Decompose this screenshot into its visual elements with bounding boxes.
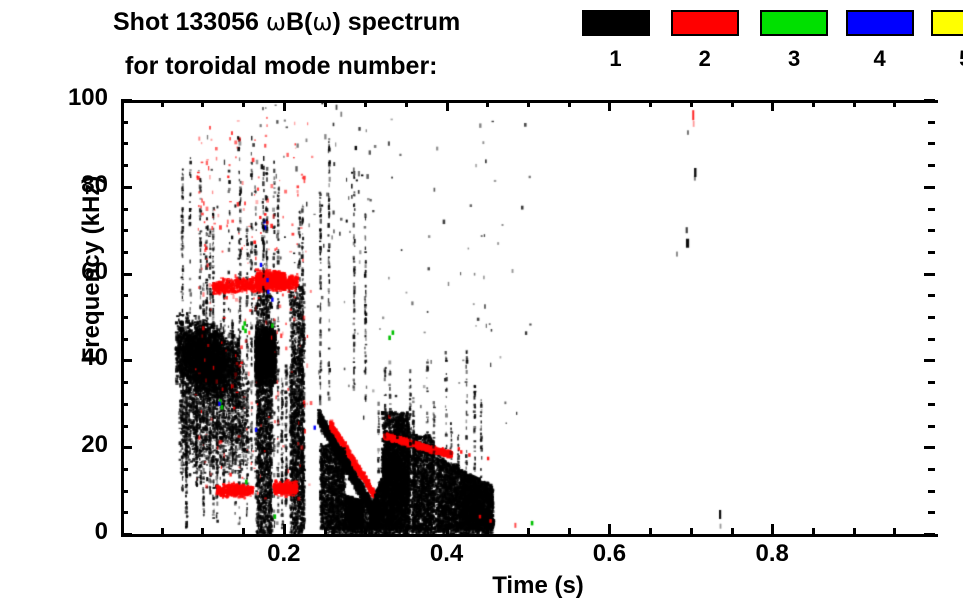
y-tick-major-40 [121,359,132,362]
y-tick-minor-right-75 [928,208,935,211]
x-tick-major-top-0.6 [608,100,611,111]
y-tick-minor-right-70 [928,229,935,232]
legend-entry-4[interactable]: 4 [846,10,914,36]
y-tick-minor-right-85 [928,164,935,167]
x-tick-minor-top-0.90 [853,100,856,107]
x-tick-minor-0.55 [568,528,571,535]
y-tick-minor-right-15 [928,468,935,471]
x-tick-minor-top-0.10 [201,100,204,107]
x-tick-minor-top-0.45 [486,100,489,107]
legend-label-3: 3 [760,46,828,72]
x-tick-major-0.6 [608,524,611,535]
legend-label-1: 1 [582,46,650,72]
legend-entry-2[interactable]: 2 [671,10,739,36]
y-tick-major-right-0 [924,533,935,536]
y-tick-minor-50 [121,316,128,319]
y-tick-minor-35 [121,381,128,384]
legend-swatch-2 [671,10,739,36]
x-tick-minor-top-0.50 [527,100,530,107]
x-tick-major-0.8 [771,524,774,535]
x-tick-label-0.2: 0.2 [244,540,324,568]
spectrogram-canvas [122,101,935,534]
legend-swatch-5 [931,10,963,36]
y-tick-major-right-20 [924,446,935,449]
x-tick-minor-0.90 [853,528,856,535]
y-tick-minor-right-35 [928,381,935,384]
x-tick-major-top-0.2 [283,100,286,111]
legend-entry-3[interactable]: 3 [760,10,828,36]
y-tick-minor-95 [121,121,128,124]
x-tick-major-top-0.8 [771,100,774,111]
y-axis-title: Frequency (kHz) [78,139,106,399]
x-tick-minor-0.65 [649,528,652,535]
legend-label-5: 5 [931,46,963,72]
y-tick-minor-10 [121,490,128,493]
x-tick-minor-top-0.55 [568,100,571,107]
y-tick-major-100 [121,99,132,102]
y-tick-major-right-100 [924,99,935,102]
y-tick-minor-right-30 [928,403,935,406]
x-tick-major-0.2 [283,524,286,535]
title-text-suffix: ) spectrum [332,8,460,36]
y-tick-minor-5 [121,511,128,514]
y-tick-major-0 [121,533,132,536]
y-tick-minor-right-55 [928,294,935,297]
y-tick-minor-90 [121,142,128,145]
y-tick-label-20: 20 [46,431,108,459]
x-tick-label-0.6: 0.6 [569,540,649,568]
x-tick-minor-0.50 [527,528,530,535]
x-tick-minor-0.05 [161,528,164,535]
y-tick-minor-70 [121,229,128,232]
x-tick-minor-0.85 [812,528,815,535]
x-tick-minor-0.75 [731,528,734,535]
x-tick-minor-top-0.70 [690,100,693,107]
legend-entry-5[interactable]: 5 [931,10,963,36]
legend: 12345 [575,10,945,90]
x-tick-major-0.4 [446,524,449,535]
y-tick-minor-right-5 [928,511,935,514]
x-tick-minor-0.95 [893,528,896,535]
x-tick-minor-0.45 [486,528,489,535]
plot-title-line-1: Shot 133056 ωB(ω) spectrum [113,8,460,37]
x-tick-minor-top-0.85 [812,100,815,107]
x-tick-minor-0.70 [690,528,693,535]
y-tick-minor-right-50 [928,316,935,319]
x-tick-minor-top-0.05 [161,100,164,107]
y-tick-minor-25 [121,425,128,428]
y-tick-minor-55 [121,294,128,297]
x-tick-minor-top-0.65 [649,100,652,107]
legend-label-2: 2 [671,46,739,72]
y-tick-major-right-40 [924,359,935,362]
y-tick-label-100: 100 [46,84,108,112]
x-tick-label-0.8: 0.8 [732,540,812,568]
y-tick-minor-right-95 [928,121,935,124]
x-tick-label-0.4: 0.4 [407,540,487,568]
x-tick-minor-0.10 [201,528,204,535]
omega-symbol-1: ω [266,8,286,36]
y-tick-major-60 [121,273,132,276]
y-tick-minor-right-45 [928,338,935,341]
y-tick-major-80 [121,186,132,189]
y-tick-minor-15 [121,468,128,471]
legend-swatch-1 [582,10,650,36]
x-tick-minor-0.35 [405,528,408,535]
x-axis-title: Time (s) [438,572,638,600]
y-tick-minor-75 [121,208,128,211]
x-tick-minor-top-0.95 [893,100,896,107]
y-tick-major-right-60 [924,273,935,276]
y-tick-minor-45 [121,338,128,341]
y-tick-minor-65 [121,251,128,254]
x-tick-minor-0.15 [242,528,245,535]
y-tick-minor-right-65 [928,251,935,254]
title-text-prefix: Shot 133056 [113,8,266,36]
plot-title-line-2: for toroidal mode number: [125,52,438,81]
y-tick-minor-30 [121,403,128,406]
y-tick-minor-right-90 [928,142,935,145]
y-tick-minor-right-10 [928,490,935,493]
legend-swatch-4 [846,10,914,36]
x-tick-minor-0.25 [324,528,327,535]
title-text-mid: B( [286,8,312,36]
y-tick-major-20 [121,446,132,449]
x-tick-minor-0.30 [364,528,367,535]
x-tick-minor-top-0.75 [731,100,734,107]
x-tick-minor-top-0.25 [324,100,327,107]
legend-swatch-3 [760,10,828,36]
y-tick-label-0: 0 [46,518,108,546]
y-tick-major-right-80 [924,186,935,189]
figure-root: Shot 133056 ωB(ω) spectrum for toroidal … [0,0,963,615]
y-tick-minor-85 [121,164,128,167]
x-tick-major-top-0.4 [446,100,449,111]
y-tick-minor-right-25 [928,425,935,428]
legend-label-4: 4 [846,46,914,72]
x-tick-minor-top-0.15 [242,100,245,107]
omega-symbol-2: ω [312,8,332,36]
x-tick-minor-top-0.30 [364,100,367,107]
x-tick-minor-top-0.35 [405,100,408,107]
legend-entry-1[interactable]: 1 [582,10,650,36]
